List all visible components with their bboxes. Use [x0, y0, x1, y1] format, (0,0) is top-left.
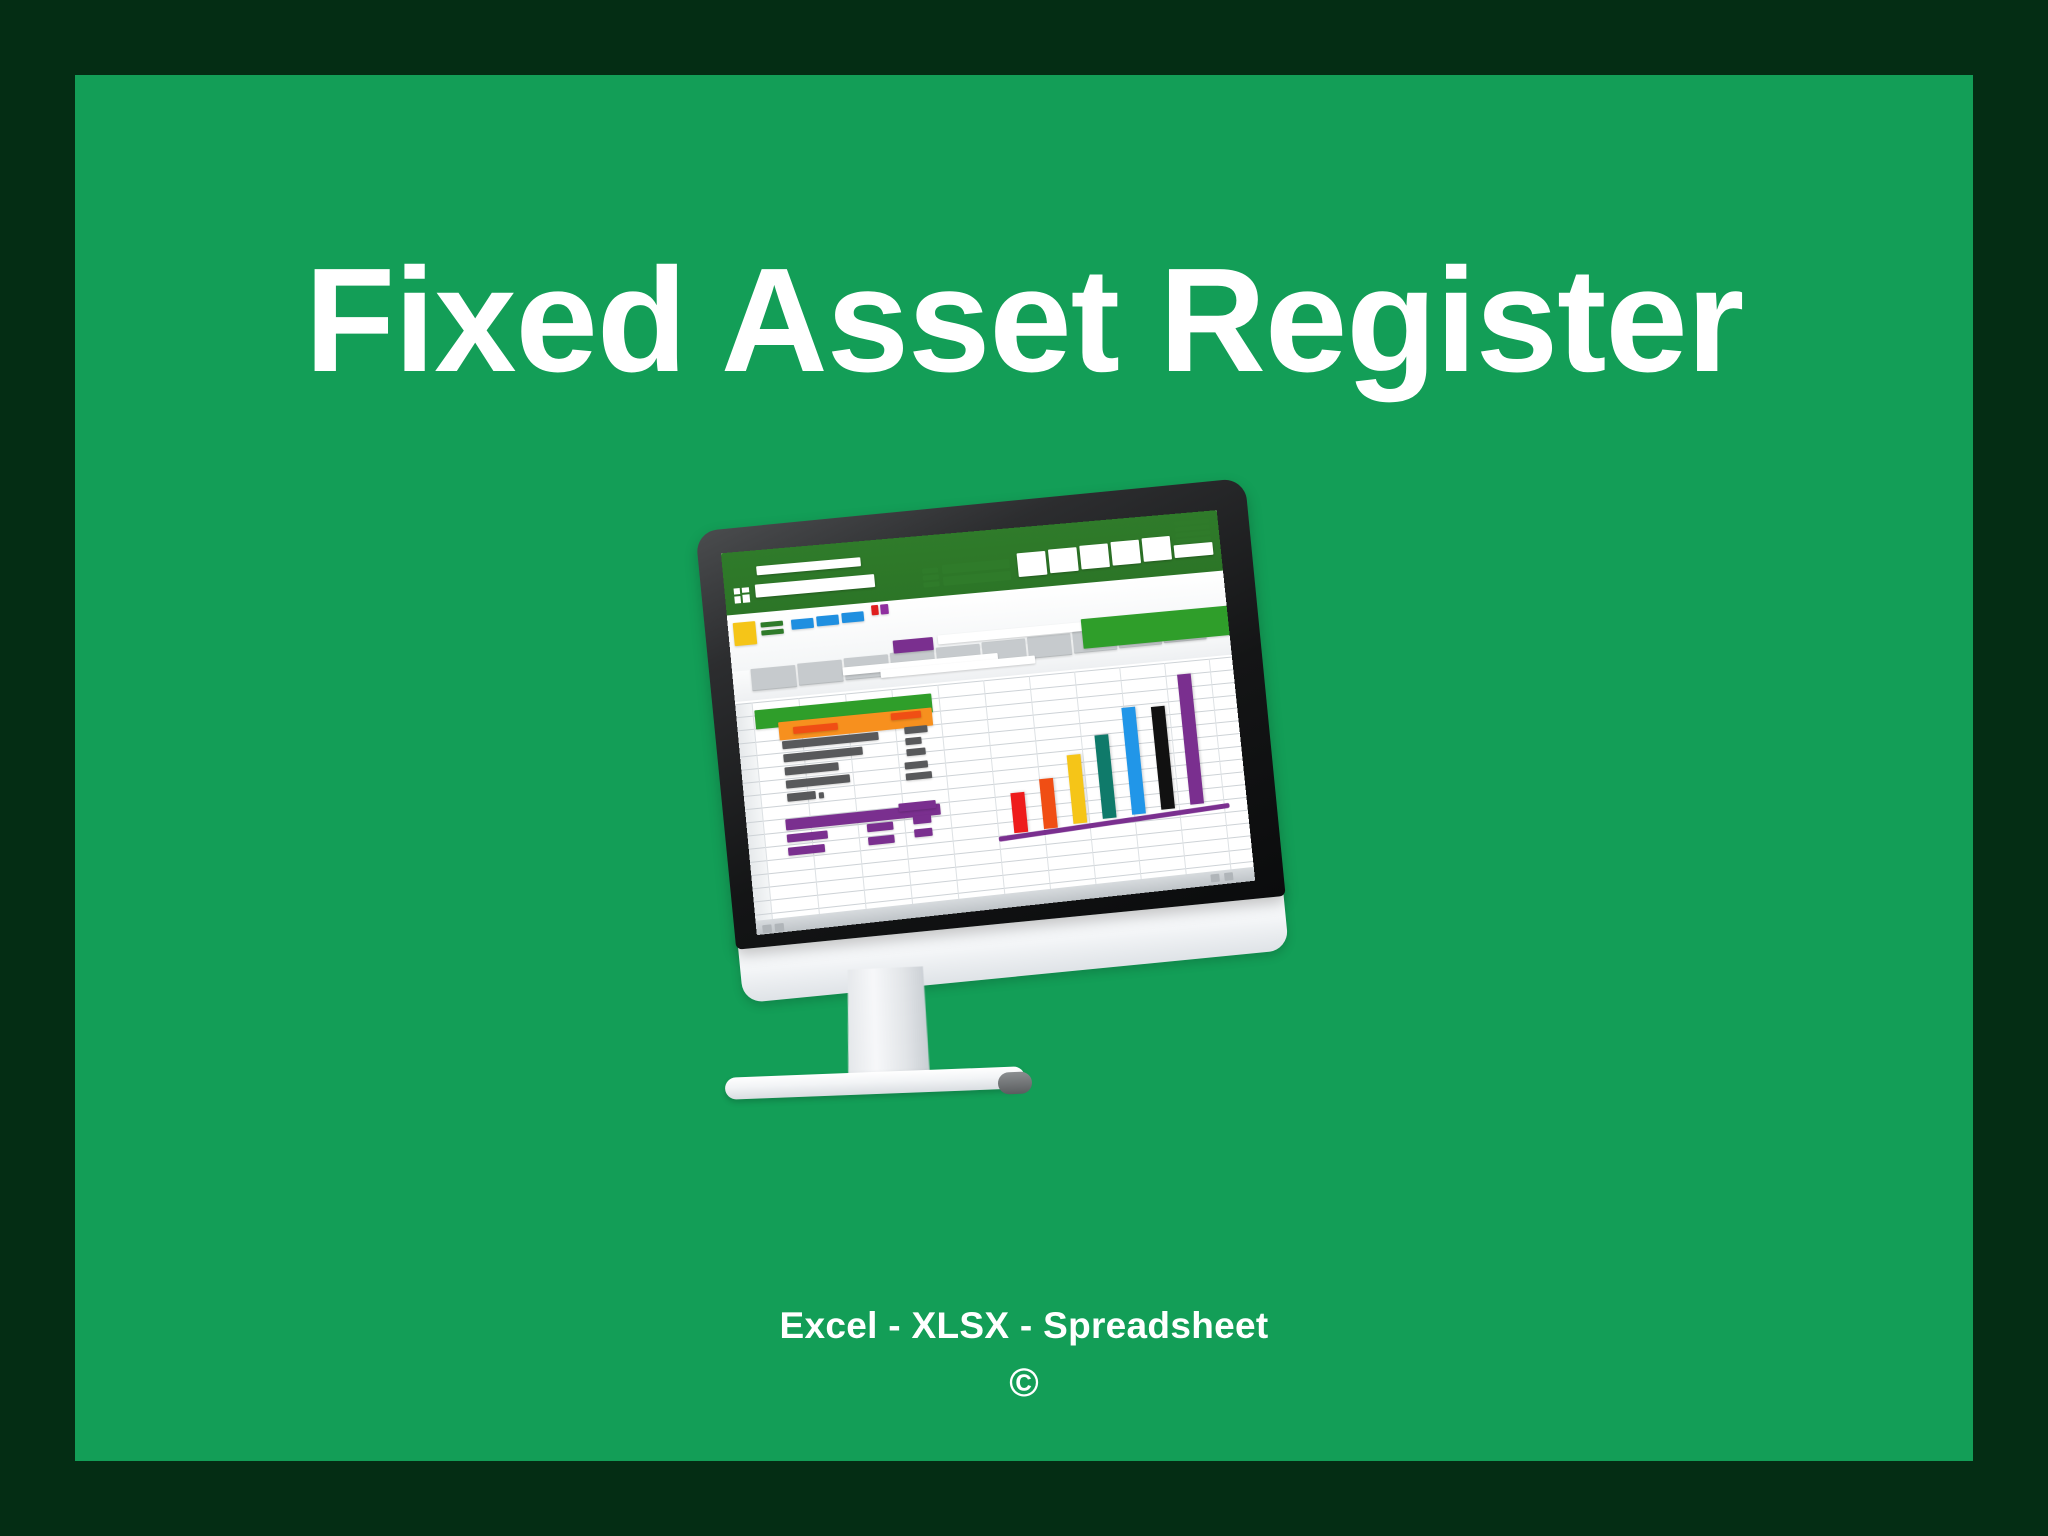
view-button[interactable] — [762, 924, 772, 933]
monitor-neck — [844, 966, 930, 1081]
view-button[interactable] — [1210, 874, 1220, 883]
caption-block: Excel - XLSX - Spreadsheet © — [75, 1303, 1973, 1403]
chart-bar — [1010, 792, 1028, 833]
chart-bar — [1067, 754, 1088, 824]
bar-chart — [984, 670, 1235, 844]
ribbon-button[interactable] — [1079, 543, 1110, 569]
monitor-base — [725, 1066, 1026, 1100]
page-title: Fixed Asset Register — [75, 243, 1973, 398]
chart-bar — [1039, 778, 1058, 829]
ribbon-button[interactable] — [1048, 547, 1079, 573]
ribbon-button-blue[interactable] — [816, 614, 839, 626]
monitor-screen-frame — [695, 478, 1285, 950]
ribbon-button-red[interactable] — [871, 605, 879, 616]
monitor-illustration — [710, 490, 1340, 1140]
spreadsheet-app — [721, 510, 1255, 935]
chart-bar — [1121, 707, 1146, 815]
monitor-base-cap — [998, 1071, 1033, 1094]
poster-canvas: Fixed Asset Register — [0, 0, 2048, 1536]
chart-bar — [1177, 673, 1204, 804]
poster-inner-panel: Fixed Asset Register — [75, 75, 1973, 1461]
chart-bar — [1151, 706, 1175, 810]
table-row-marker — [819, 792, 825, 799]
ribbon-button[interactable] — [1141, 536, 1172, 562]
column-header-cell[interactable] — [750, 665, 797, 691]
ribbon-swatch-yellow[interactable] — [733, 621, 758, 646]
format-caption: Excel - XLSX - Spreadsheet — [75, 1303, 1973, 1349]
ribbon-button-purple[interactable] — [880, 604, 889, 615]
monitor-body — [686, 464, 1294, 1036]
ribbon-button[interactable] — [1110, 540, 1141, 566]
ribbon-button-blue[interactable] — [841, 611, 864, 623]
chart-bar — [1094, 734, 1116, 819]
monitor-screen — [721, 510, 1255, 935]
copyright-icon: © — [75, 1363, 1973, 1403]
view-button[interactable] — [774, 923, 784, 932]
view-button[interactable] — [1224, 872, 1234, 881]
app-logo-icon — [734, 587, 751, 603]
column-header-cell[interactable] — [797, 660, 844, 686]
ribbon-button[interactable] — [1017, 551, 1048, 577]
ribbon-button-blue[interactable] — [791, 618, 814, 630]
